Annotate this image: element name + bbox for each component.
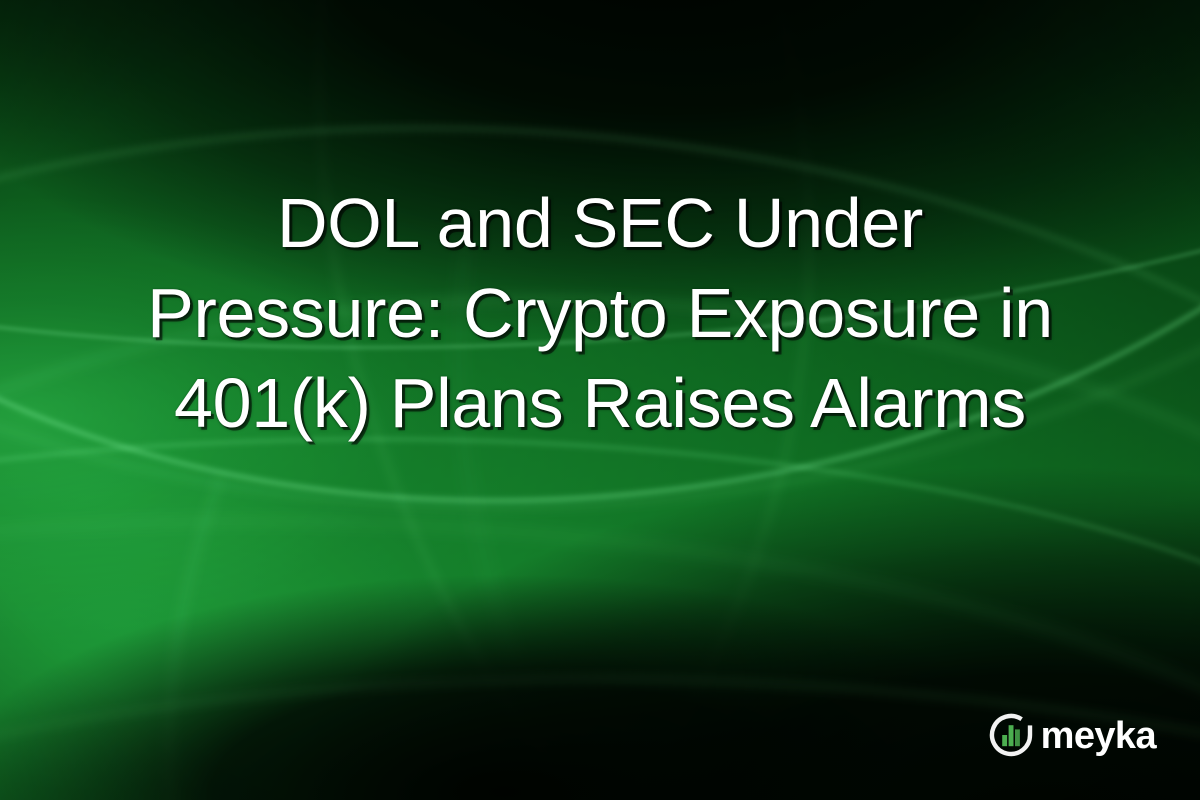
brand-wordmark: meyka: [1041, 717, 1156, 755]
headline-title: DOL and SEC Under Pressure: Crypto Expos…: [0, 178, 1200, 448]
headline-line-1: DOL and SEC Under: [24, 178, 1176, 268]
headline-line-3: 401(k) Plans Raises Alarms: [24, 358, 1176, 448]
brand-logo[interactable]: meyka: [988, 712, 1156, 758]
meyka-logo-icon: [988, 712, 1034, 758]
article-banner-image: DOL and SEC Under Pressure: Crypto Expos…: [0, 0, 1200, 800]
headline-line-2: Pressure: Crypto Exposure in: [24, 268, 1176, 358]
